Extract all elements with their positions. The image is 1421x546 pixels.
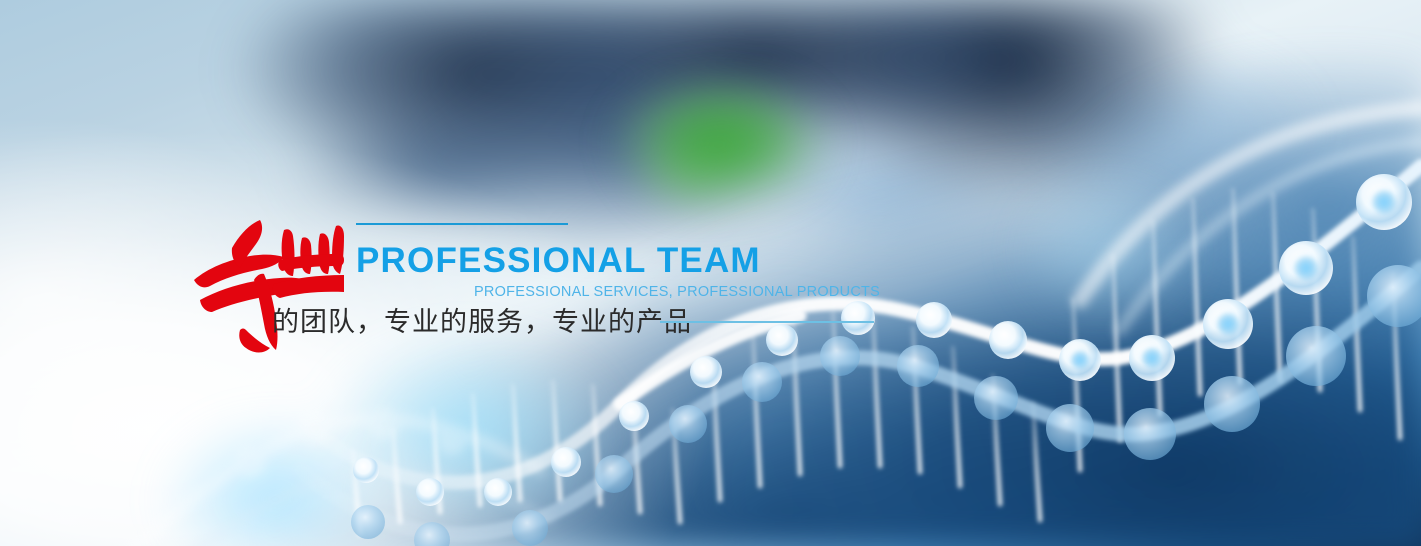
banner-subheadline: PROFESSIONAL SERVICES, PROFESSIONAL PROD…	[474, 285, 880, 300]
banner-caption: PROFESSIONAL TEAM PROFESSIONAL SERVICES,…	[0, 0, 1421, 546]
decorative-rule-bottom	[660, 321, 874, 323]
hero-banner: PROFESSIONAL TEAM PROFESSIONAL SERVICES,…	[0, 0, 1421, 546]
banner-chinese-tagline: 的团队，专业的服务，专业的产品	[272, 306, 692, 340]
decorative-rule-top	[356, 223, 568, 225]
banner-headline: PROFESSIONAL TEAM	[356, 243, 761, 278]
